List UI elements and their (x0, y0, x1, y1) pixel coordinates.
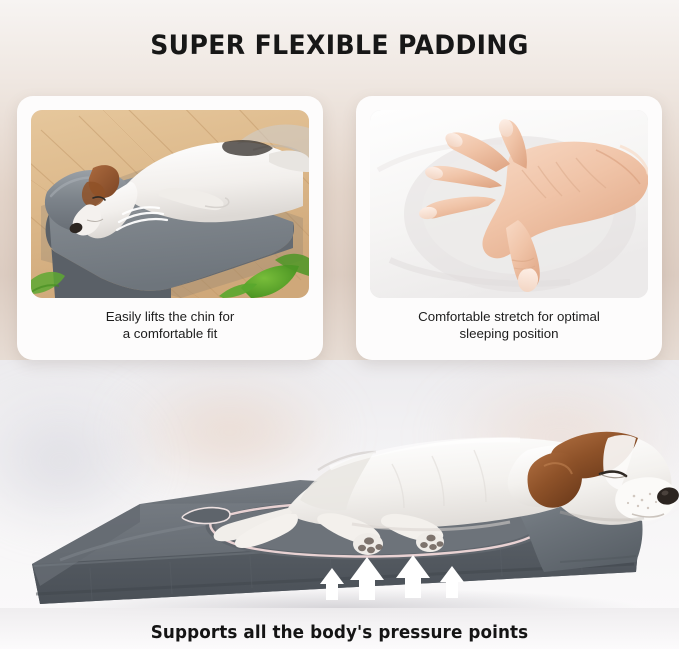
caption-line-2: sleeping position (368, 325, 650, 342)
page-title: SUPER FLEXIBLE PADDING (24, 30, 655, 61)
product-feature-poster: SUPER FLEXIBLE PADDING (0, 0, 679, 649)
hand-pressing-foam-photo (370, 110, 648, 298)
caption-line-1: Comfortable stretch for optimal (368, 308, 650, 325)
feature-card-chin-lift: Easily lifts the chin for a comfortable … (17, 96, 323, 360)
card-caption-chin-lift: Easily lifts the chin for a comfortable … (29, 308, 311, 342)
feature-card-foam-stretch: Comfortable stretch for optimal sleeping… (356, 96, 662, 360)
card-caption-foam-stretch: Comfortable stretch for optimal sleeping… (368, 308, 650, 342)
caption-line-2: a comfortable fit (29, 325, 311, 342)
dog-on-bed-photo (31, 110, 309, 298)
caption-line-1: Easily lifts the chin for (29, 308, 311, 325)
dog-lying-on-orthopedic-bed (0, 372, 679, 622)
bottom-caption: Supports all the body's pressure points (14, 623, 666, 643)
